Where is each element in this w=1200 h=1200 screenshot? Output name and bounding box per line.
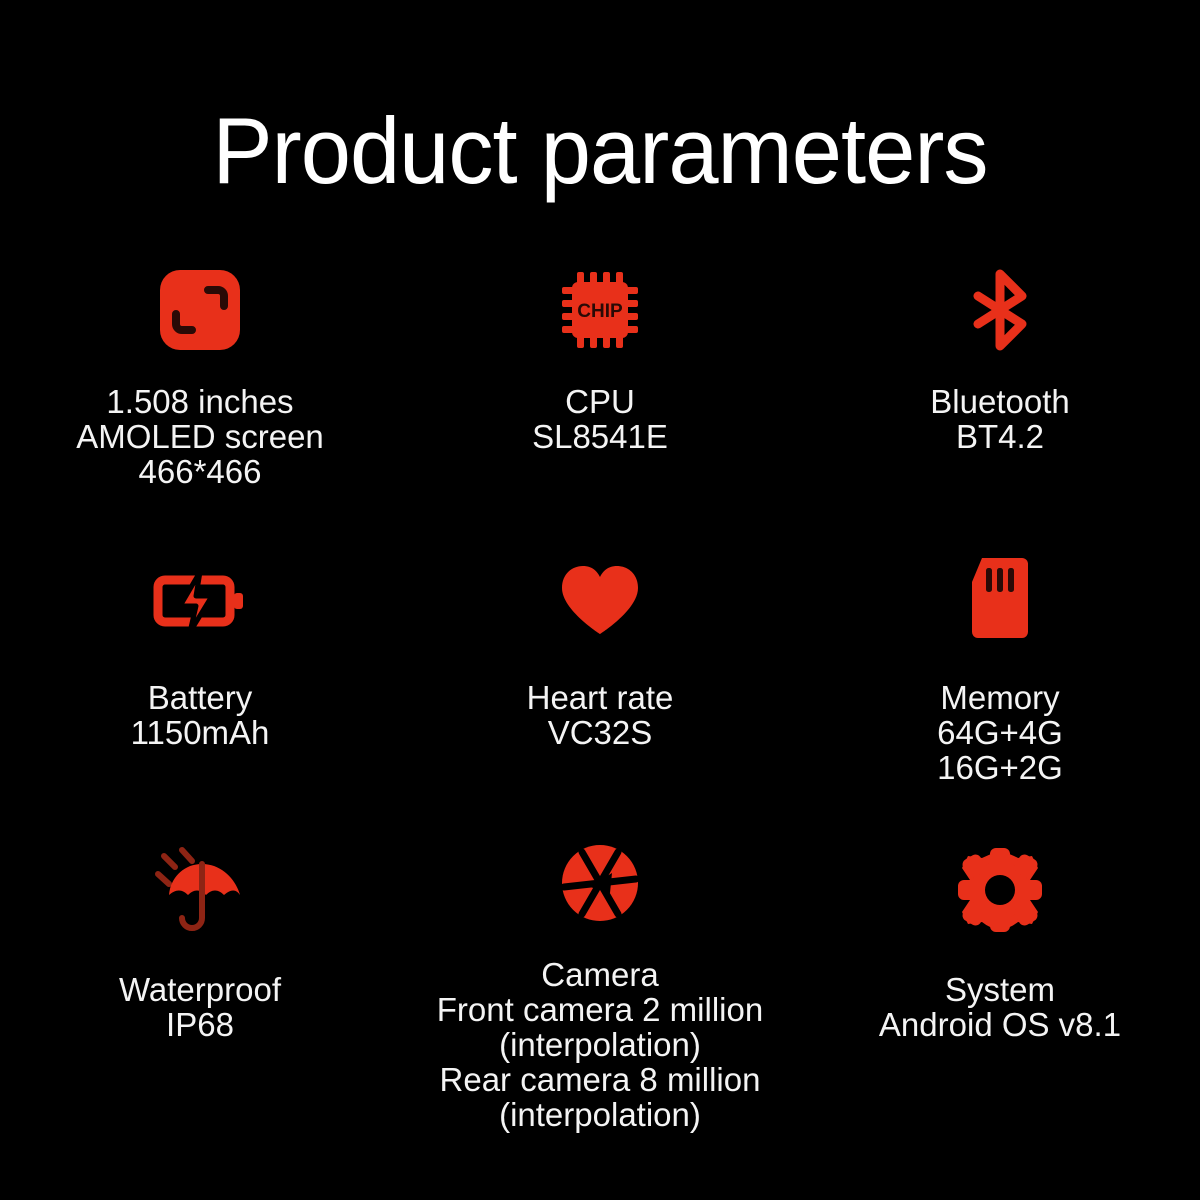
spec-labels: 1.508 inches AMOLED screen 466*466 xyxy=(76,384,324,489)
spec-line: Rear camera 8 million xyxy=(437,1062,763,1097)
spec-line: (interpolation) xyxy=(437,1027,763,1062)
spec-labels: Memory 64G+4G 16G+2G xyxy=(937,680,1063,785)
spec-item-camera: Camera Front camera 2 million (interpola… xyxy=(400,832,800,1132)
spec-labels: System Android OS v8.1 xyxy=(879,972,1121,1042)
spec-line: Android OS v8.1 xyxy=(879,1007,1121,1042)
spec-line: Battery xyxy=(131,680,270,715)
spec-item-heart-rate: Heart rate VC32S xyxy=(400,542,800,832)
spec-line: VC32S xyxy=(527,715,674,750)
bluetooth-icon xyxy=(952,252,1048,368)
chip-icon-label: CHIP xyxy=(577,301,623,322)
spec-line: 1150mAh xyxy=(131,715,270,750)
spec-line: Memory xyxy=(937,680,1063,715)
memory-card-icon xyxy=(952,542,1048,658)
spec-item-cpu: CHIP CPU SL8541E xyxy=(400,252,800,542)
product-parameters-infographic: Product parameters 1.508 inches AMOLED s… xyxy=(0,0,1200,1200)
spec-labels: Waterproof IP68 xyxy=(119,972,281,1042)
spec-line: IP68 xyxy=(119,1007,281,1042)
spec-line: Camera xyxy=(437,957,763,992)
gear-icon xyxy=(952,832,1048,948)
spec-item-memory: Memory 64G+4G 16G+2G xyxy=(800,542,1200,832)
spec-labels: Heart rate VC32S xyxy=(527,680,674,750)
spec-grid: 1.508 inches AMOLED screen 466*466 xyxy=(0,252,1200,1132)
spec-line: SL8541E xyxy=(532,419,668,454)
spec-line: BT4.2 xyxy=(930,419,1069,454)
umbrella-rain-icon xyxy=(148,832,252,948)
spec-line: System xyxy=(879,972,1121,1007)
screen-icon xyxy=(152,252,248,368)
spec-line: Waterproof xyxy=(119,972,281,1007)
spec-line: 466*466 xyxy=(76,454,324,489)
spec-line: 64G+4G xyxy=(937,715,1063,750)
spec-labels: CPU SL8541E xyxy=(532,384,668,454)
spec-item-system: System Android OS v8.1 xyxy=(800,832,1200,1132)
spec-line: Heart rate xyxy=(527,680,674,715)
spec-item-bluetooth: Bluetooth BT4.2 xyxy=(800,252,1200,542)
heart-icon xyxy=(552,542,648,658)
spec-labels: Bluetooth BT4.2 xyxy=(930,384,1069,454)
camera-aperture-icon xyxy=(552,832,648,933)
battery-charging-icon xyxy=(150,542,250,658)
spec-labels: Camera Front camera 2 million (interpola… xyxy=(437,957,763,1132)
chip-icon: CHIP xyxy=(552,252,648,368)
spec-line: AMOLED screen xyxy=(76,419,324,454)
spec-line: CPU xyxy=(532,384,668,419)
page-title: Product parameters xyxy=(24,96,1176,206)
spec-line: Bluetooth xyxy=(930,384,1069,419)
spec-line: (interpolation) xyxy=(437,1097,763,1132)
spec-item-waterproof: Waterproof IP68 xyxy=(0,832,400,1132)
spec-item-battery: Battery 1150mAh xyxy=(0,542,400,832)
spec-item-screen: 1.508 inches AMOLED screen 466*466 xyxy=(0,252,400,542)
spec-line: 16G+2G xyxy=(937,750,1063,785)
spec-labels: Battery 1150mAh xyxy=(131,680,270,750)
spec-line: Front camera 2 million xyxy=(437,992,763,1027)
spec-line: 1.508 inches xyxy=(76,384,324,419)
